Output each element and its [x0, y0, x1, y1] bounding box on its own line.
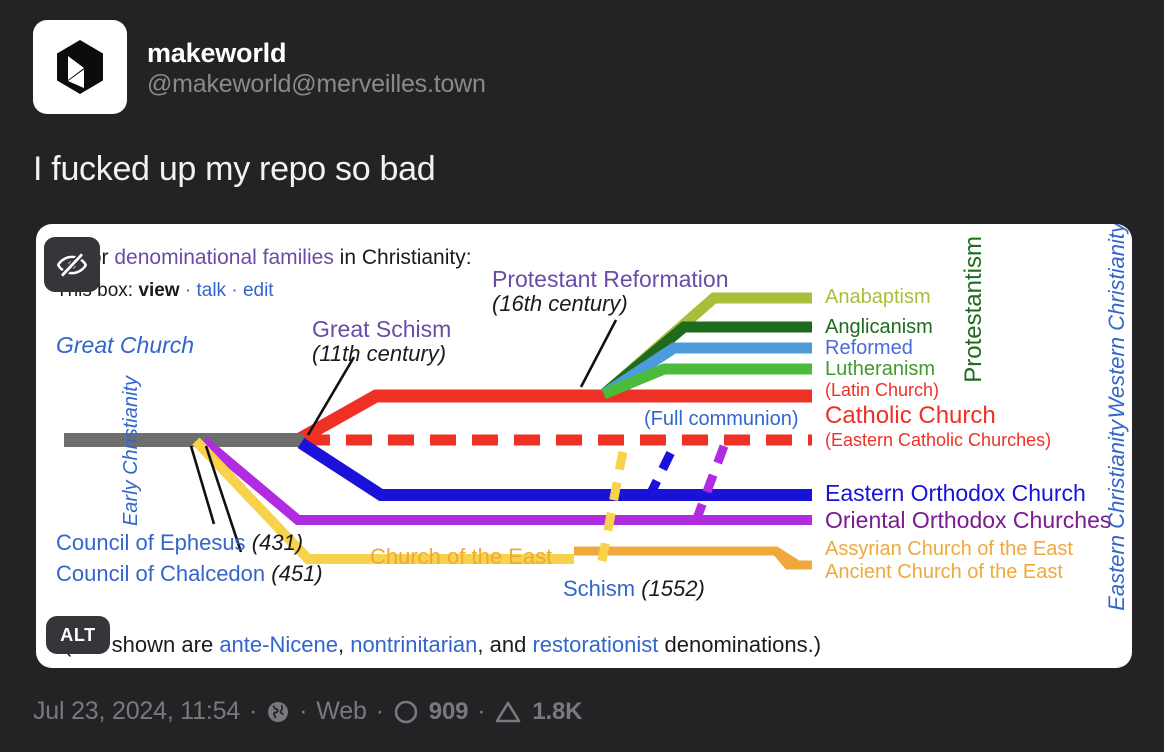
diagram-title-suffix: in Christianity:	[340, 246, 472, 269]
great-schism-label[interactable]: Great Schism	[312, 316, 451, 343]
western-christianity-axis-label[interactable]: Western Christianity	[1104, 224, 1130, 418]
favourite-triangle-icon	[494, 699, 522, 725]
favourite-count: 1.8K	[532, 698, 582, 726]
council-of-ephesus-label: Council of Ephesus (431)	[56, 530, 303, 556]
protestant-reformation-label[interactable]: Protestant Reformation	[492, 266, 729, 293]
diagram-title: Major denominational families in Christi…	[56, 246, 472, 270]
footnote-comma: ,	[338, 632, 344, 657]
eastern-christianity-axis-label[interactable]: Eastern Christianity	[1104, 420, 1130, 611]
great-schism-date: (11th century)	[312, 341, 446, 367]
box-nav-edit[interactable]: edit	[243, 280, 274, 301]
great-church-label[interactable]: Great Church	[56, 332, 194, 359]
footnote-link-ante-nicene[interactable]: ante-Nicene	[219, 632, 338, 657]
diagram-title-link[interactable]: denominational families	[114, 246, 333, 269]
footnote-and: , and	[477, 632, 526, 657]
post-source: Web	[316, 697, 366, 726]
account-identity: makeworld @makeworld@merveilles.town	[147, 20, 486, 100]
protestantism-axis-label[interactable]: Protestantism	[960, 236, 988, 383]
council-of-chalcedon-date: (451)	[271, 561, 322, 586]
footnote-link-nontrinitarian[interactable]: nontrinitarian	[350, 632, 477, 657]
meta-sep-4: ·	[477, 697, 485, 726]
boost-count: 909	[429, 698, 468, 726]
box-nav-view[interactable]: view	[138, 280, 179, 301]
council-of-chalcedon-label: Council of Chalcedon (451)	[56, 561, 323, 587]
diagram-footnote: (Not shown are ante-Nicene, nontrinitari…	[64, 632, 821, 658]
footnote-link-restorationist[interactable]: restorationist	[532, 632, 658, 657]
branch-label-anabaptism[interactable]: Anabaptism	[825, 286, 931, 309]
eastern-catholic-churches-label[interactable]: (Eastern Catholic Churches)	[825, 430, 1051, 451]
branch-label-anglicanism[interactable]: Anglicanism	[825, 316, 933, 339]
schism-date: (1552)	[641, 576, 705, 601]
post-timestamp[interactable]: Jul 23, 2024, 11:54	[33, 697, 240, 726]
meta-sep-3: ·	[376, 697, 384, 726]
account-handle[interactable]: @makeworld@merveilles.town	[147, 70, 486, 100]
alt-text-badge[interactable]: ALT	[46, 616, 110, 654]
church-of-the-east-label[interactable]: Church of the East	[370, 544, 552, 570]
favourite-count-group[interactable]: 1.8K	[494, 698, 582, 726]
post-header: makeworld @makeworld@merveilles.town	[33, 20, 486, 114]
meta-sep-1: ·	[249, 697, 257, 726]
eastern-orthodox-church-label[interactable]: Eastern Orthodox Church	[825, 480, 1086, 507]
early-christianity-axis-label[interactable]: Early Christianity	[120, 376, 143, 526]
footnote-suffix: denominations.)	[665, 632, 822, 657]
protestant-reformation-date: (16th century)	[492, 291, 628, 317]
latin-church-label[interactable]: (Latin Church)	[825, 380, 939, 401]
media-attachment[interactable]: Major denominational families in Christi…	[36, 224, 1132, 668]
status-meta: Jul 23, 2024, 11:54 · · Web · 909 ·	[33, 697, 582, 726]
council-of-chalcedon-link[interactable]: Council of Chalcedon	[56, 561, 265, 586]
schism-link[interactable]: Schism	[563, 576, 635, 601]
box-nav-dot-1: ·	[185, 280, 191, 301]
christianity-denominations-diagram: Major denominational families in Christi…	[36, 224, 1132, 668]
box-nav-talk[interactable]: talk	[196, 280, 226, 301]
branch-label-lutheranism[interactable]: Lutheranism	[825, 358, 935, 381]
branch-label-reformed[interactable]: Reformed	[825, 337, 913, 360]
box-nav-dot-2: ·	[231, 280, 237, 301]
status-content: I fucked up my repo so bad	[33, 150, 435, 189]
assyrian-church-label[interactable]: Assyrian Church of the East	[825, 538, 1073, 561]
council-of-ephesus-link[interactable]: Council of Ephesus	[56, 530, 246, 555]
hide-media-button[interactable]	[44, 237, 100, 292]
full-communion-label: (Full communion)	[644, 408, 798, 431]
mastodon-post: makeworld @makeworld@merveilles.town I f…	[0, 0, 1164, 752]
council-of-ephesus-date: (431)	[252, 530, 303, 555]
display-name[interactable]: makeworld	[147, 38, 486, 68]
catholic-church-label[interactable]: Catholic Church	[825, 402, 996, 430]
eye-slash-icon	[57, 250, 87, 280]
oriental-orthodox-churches-label[interactable]: Oriental Orthodox Churches	[825, 507, 1111, 534]
ancient-church-label[interactable]: Ancient Church of the East	[825, 561, 1063, 584]
meta-sep-2: ·	[299, 697, 307, 726]
globe-icon	[266, 700, 290, 724]
avatar[interactable]	[33, 20, 127, 114]
boost-circle-icon	[393, 699, 419, 725]
schism-1552-label: Schism (1552)	[563, 576, 705, 602]
cube-logo-icon	[54, 38, 106, 96]
boost-count-group[interactable]: 909	[393, 698, 468, 726]
